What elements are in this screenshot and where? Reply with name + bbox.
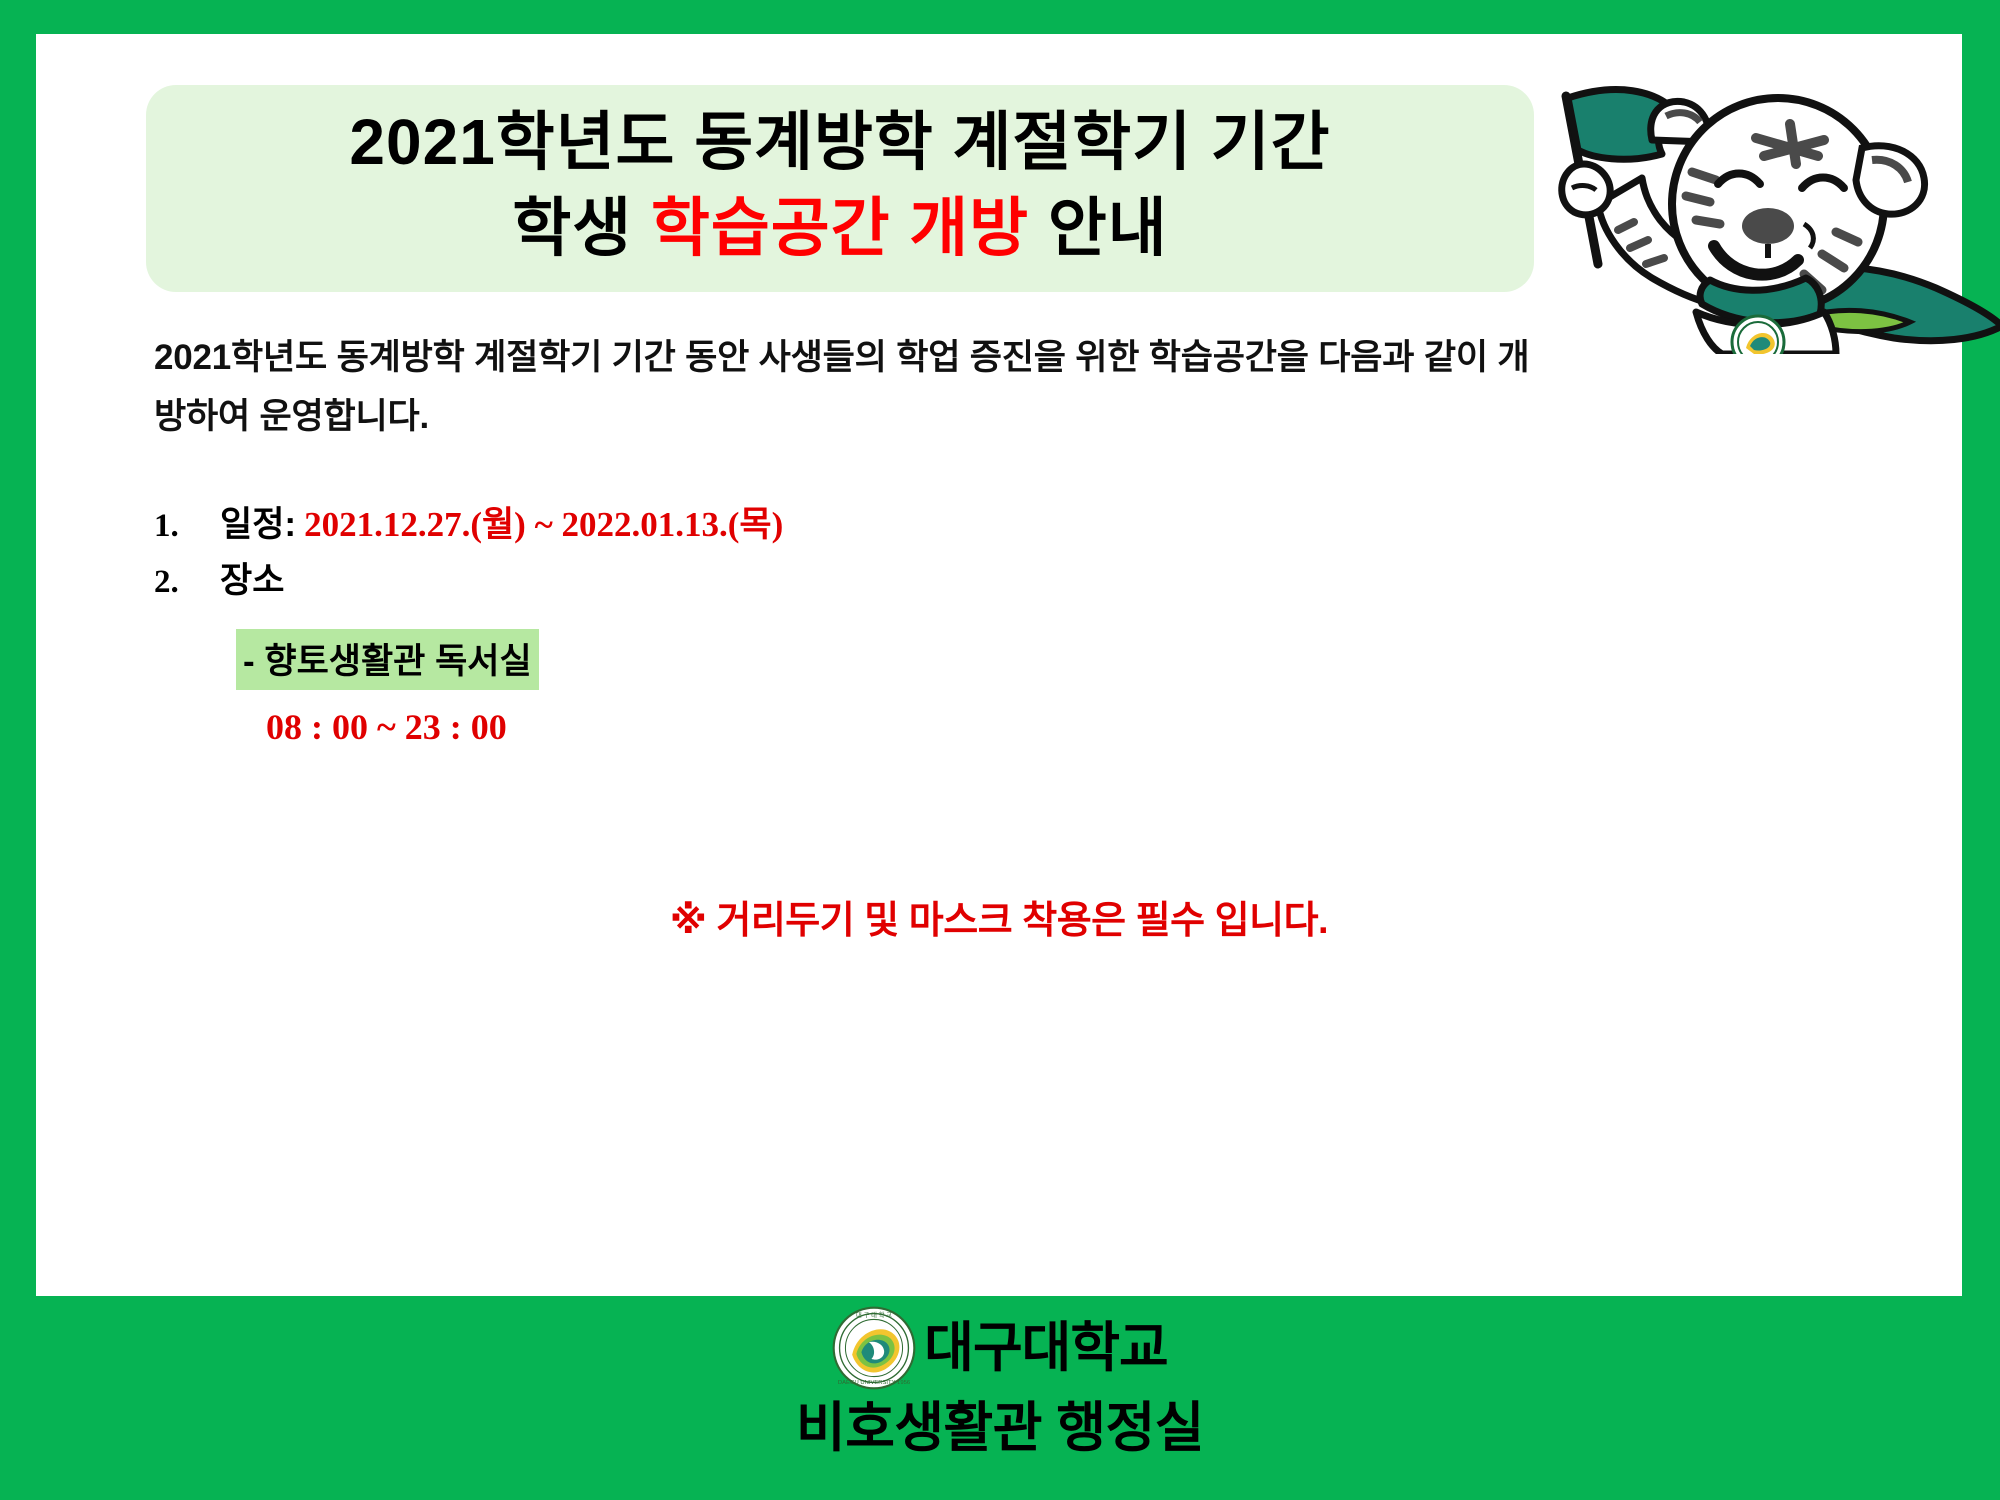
- place-name-highlighted: - 향토생활관 독서실: [236, 629, 539, 690]
- title-line-2: 학생 학습공간 개방 안내: [146, 185, 1534, 271]
- list-item-label: 장소: [220, 552, 284, 603]
- title-line-1: 2021학년도 동계방학 계절학기 기간: [146, 99, 1534, 185]
- intro-paragraph: 2021학년도 동계방학 계절학기 기간 동안 사생들의 학업 증진을 위한 학…: [154, 328, 1534, 446]
- cape-inner: [1806, 310, 1910, 331]
- tiger-eye-right: [1802, 178, 1844, 189]
- cheek-stripe-right: [1872, 160, 1908, 182]
- head-stripes-right: [1804, 232, 1858, 290]
- tiger-cheek-right: [1856, 146, 1925, 214]
- fist-crease: [1572, 186, 1596, 190]
- tiger-eye-left: [1718, 174, 1760, 185]
- safety-notice: ※ 거리두기 및 마스크 착용은 필수 입니다.: [36, 889, 1962, 944]
- title-line-2-highlight: 학습공간 개방: [651, 192, 1029, 264]
- daegu-university-emblem: [1732, 316, 1784, 354]
- tiger-head: [1672, 98, 1884, 310]
- title-banner: 2021학년도 동계방학 계절학기 기간 학생 학습공간 개방 안내: [146, 85, 1534, 292]
- tiger-nose: [1742, 208, 1794, 244]
- list-item-number: 1.: [154, 508, 220, 545]
- teal-flag: [1568, 90, 1676, 160]
- daegu-university-logo-icon: 대 구 대 학 교 DAEGU UNIVERSITY 1956: [832, 1306, 916, 1390]
- neck-scarf: [1700, 278, 1821, 323]
- logo-text-bottom: DAEGU UNIVERSITY 1956: [838, 1380, 910, 1386]
- list-item-number: 2.: [154, 564, 220, 601]
- detail-list: 1. 일정: 2021.12.27.(월) ~ 2022.01.13.(목) 2…: [154, 496, 1554, 608]
- poster-title: 2021학년도 동계방학 계절학기 기간 학생 학습공간 개방 안내: [146, 99, 1534, 271]
- list-item-label: 일정:: [220, 496, 296, 547]
- list-item: 2. 장소: [154, 552, 1554, 608]
- content-sheet: 2021학년도 동계방학 계절학기 기간 학생 학습공간 개방 안내 2021학…: [36, 34, 1962, 1296]
- poster-footer: 대 구 대 학 교 DAEGU UNIVERSITY 1956 대구대학교 비호…: [0, 1300, 2000, 1500]
- white-tiger-mascot-icon: [1506, 54, 2000, 354]
- head-stripes-left: [1686, 172, 1720, 224]
- list-item: 1. 일정: 2021.12.27.(월) ~ 2022.01.13.(목): [154, 496, 1554, 552]
- tiger-body: [1696, 312, 1836, 354]
- list-item-value: 2021.12.27.(월) ~ 2022.01.13.(목): [304, 496, 783, 547]
- arm-stripes: [1618, 222, 1664, 264]
- tiger-fist: [1562, 164, 1610, 215]
- title-line-2-prefix: 학생: [512, 192, 651, 264]
- tiger-mouth: [1714, 246, 1798, 275]
- poster-root: 2021학년도 동계방학 계절학기 기간 학생 학습공간 개방 안내 2021학…: [0, 0, 2000, 1500]
- footer-org-row: 대 구 대 학 교 DAEGU UNIVERSITY 1956 대구대학교: [0, 1300, 2000, 1396]
- tiger-ear-left: [1651, 101, 1709, 142]
- department-name: 비호생활관 행정실: [0, 1396, 2000, 1460]
- tiger-arm: [1598, 178, 1720, 304]
- organization-name: 대구대학교: [924, 1306, 1167, 1390]
- flag-pole: [1566, 96, 1598, 264]
- forehead-stripes: [1756, 124, 1824, 164]
- logo-text-top: 대 구 대 학 교: [856, 1310, 892, 1319]
- place-opening-hours: 08 : 00 ~ 23 : 00: [266, 706, 507, 748]
- title-line-2-suffix: 안내: [1029, 192, 1168, 264]
- cheek-line: [1804, 224, 1813, 248]
- ear-stripe-left: [1666, 113, 1700, 122]
- teal-cape: [1774, 267, 2000, 341]
